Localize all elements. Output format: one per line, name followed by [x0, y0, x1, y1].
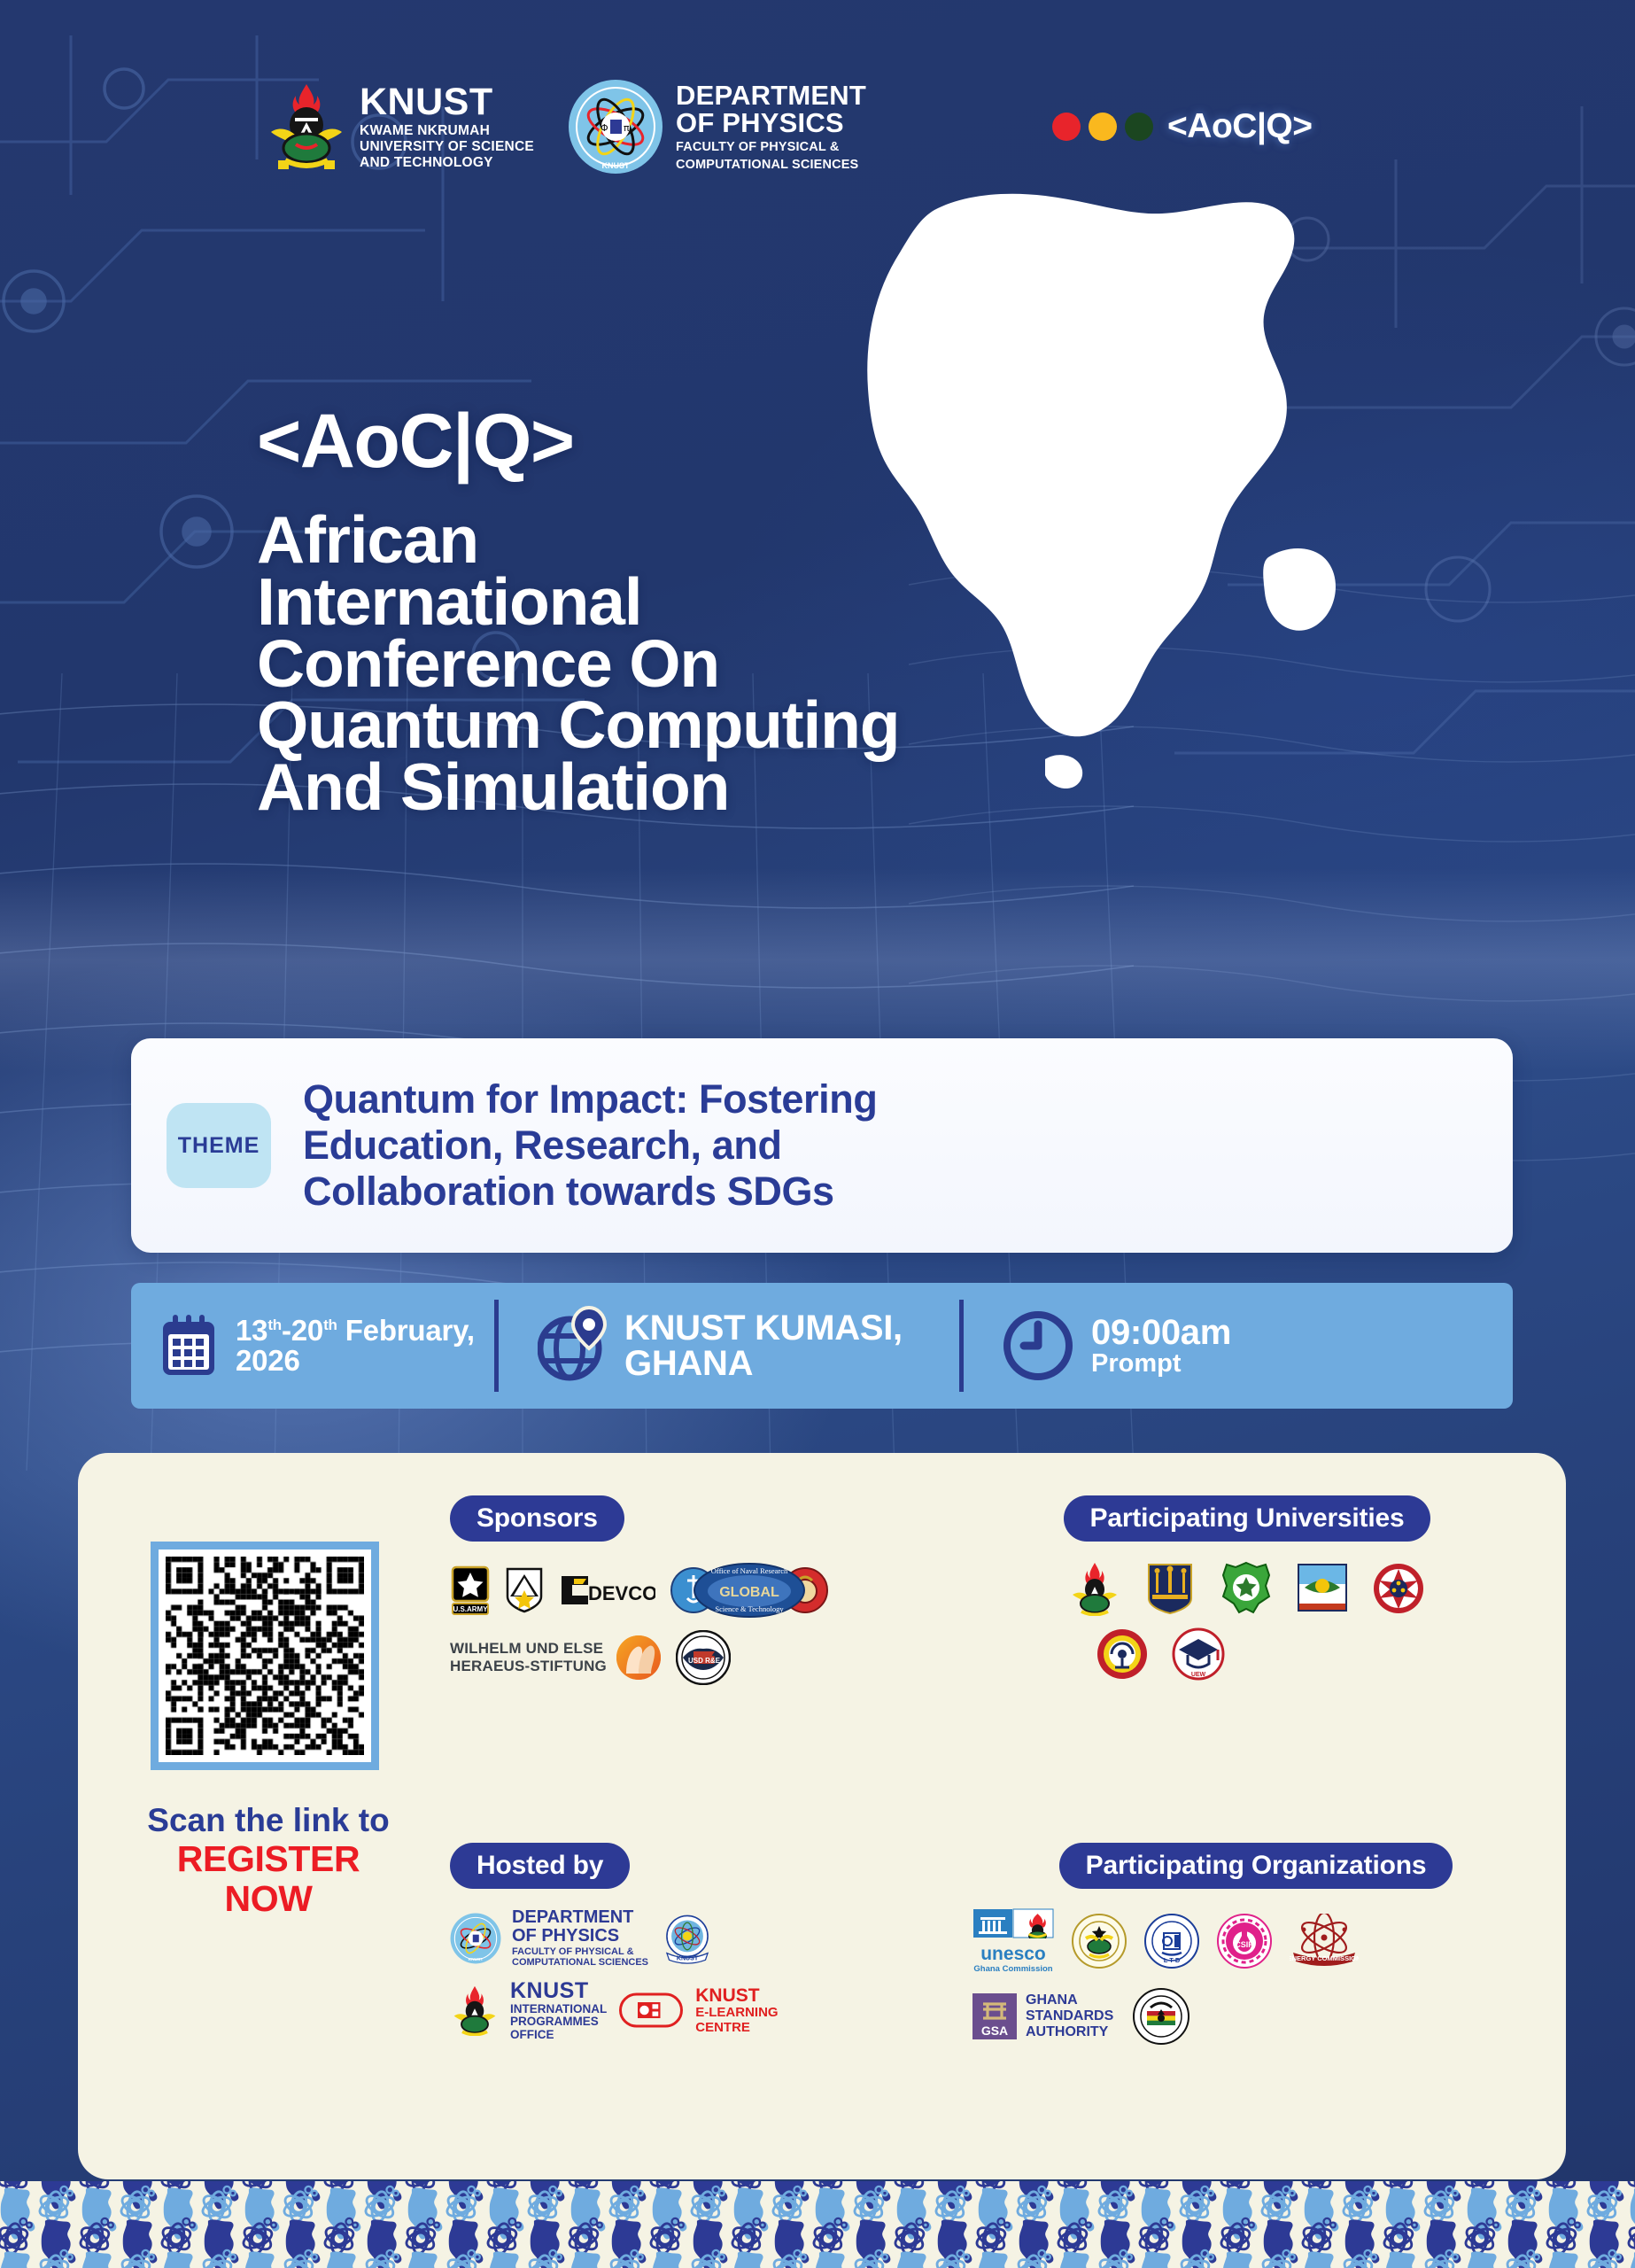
- detail-venue-text: KNUST KUMASI, GHANA: [624, 1310, 903, 1381]
- department-of-physics-wordmark: DEPARTMENT OF PHYSICS FACULTY OF PHYSICA…: [512, 1908, 648, 1969]
- gsa-wordmark: GHANA STANDARDS AUTHORITY: [1026, 1992, 1113, 2040]
- detail-date-year: 2026: [236, 1346, 475, 1376]
- svg-text:USD R&E: USD R&E: [688, 1657, 721, 1665]
- department-line1: DEPARTMENT: [676, 82, 866, 109]
- university-of-education-winneba-logo: UEW: [1172, 1627, 1225, 1682]
- gsa-line1: GHANA: [1026, 1992, 1113, 2008]
- usd-r-and-e-logo: USD R&E: [676, 1630, 731, 1685]
- hero-title-block: <AoC|Q> African International Conference…: [257, 403, 930, 819]
- dot-amber: [1089, 113, 1117, 141]
- gsa-line3: AUTHORITY: [1026, 2024, 1113, 2040]
- department-of-physics-logo: KNUST: [450, 1913, 501, 1964]
- university-of-energy-and-natural-resources-logo: [1372, 1561, 1425, 1616]
- department-wordmark: DEPARTMENT OF PHYSICS FACULTY OF PHYSICA…: [676, 82, 866, 172]
- ghana-water-ltd-logo: L T D: [1144, 1914, 1199, 1969]
- elc-sub2: CENTRE: [695, 2021, 778, 2036]
- svg-text:Φ: Φ: [601, 122, 608, 134]
- svg-text:U.S.ARMY: U.S.ARMY: [453, 1605, 488, 1613]
- hero-title-line-5: And Simulation: [257, 757, 930, 819]
- organizations-heading: Participating Organizations: [1059, 1843, 1453, 1889]
- svg-text:DEVCOM: DEVCOM: [588, 1582, 655, 1604]
- unesco-wordmark: unesco: [972, 1945, 1054, 1963]
- hosted-by-row-1: KNUST DEPARTMENT OF PHYSICS FACULTY OF P…: [450, 1908, 946, 1969]
- hosted-dept-line2: OF PHYSICS: [512, 1927, 648, 1946]
- detail-date-text: 13th-20th February, 2026: [236, 1316, 475, 1377]
- knust-crest-icon: [266, 82, 347, 171]
- theme-text: Quantum for Impact: Fostering Education,…: [303, 1076, 877, 1216]
- universities-row-1: [972, 1561, 1522, 1616]
- elc-sub1: E-LEARNING: [695, 2006, 778, 2021]
- detail-venue: KNUST KUMASI, GHANA: [499, 1283, 959, 1409]
- africa-atom-repeating-border: [0, 2181, 1635, 2268]
- organizations-row-2: GSA GHANA STANDARDS AUTHORITY: [972, 1988, 1539, 2045]
- detail-venue-line2: GHANA: [624, 1346, 903, 1381]
- organizations-row-1: unesco Ghana Commission: [972, 1908, 1539, 1974]
- svg-text:KNUST: KNUST: [677, 1955, 699, 1961]
- detail-date-line1: 13th-20th February,: [236, 1316, 475, 1346]
- ipo-sub3: OFFICE: [510, 2029, 607, 2042]
- universities-heading: Participating Universities: [1064, 1495, 1431, 1542]
- aocq-logo-block: <AoC|Q>: [1052, 107, 1312, 146]
- hero-title-line-2: International: [257, 571, 930, 633]
- theme-card: THEME Quantum for Impact: Fostering Educ…: [131, 1038, 1513, 1253]
- atom-orbit-icon: [1098, 266, 1267, 412]
- hosted-by-heading: Hosted by: [450, 1843, 630, 1889]
- heraeus-line2: HERAEUS-STIFTUNG: [450, 1658, 607, 1675]
- hosted-by-row-2: KNUST INTERNATIONAL PROGRAMMES OFFICE: [450, 1979, 946, 2042]
- army-futures-command-logo: [505, 1566, 544, 1614]
- office-of-naval-research-global-logo: Office of Naval Research GLOBAL Science …: [670, 1561, 829, 1619]
- svg-text:π: π: [624, 122, 630, 134]
- hero-title-line-1: African: [257, 509, 930, 571]
- unesco-ghana-commission-logo: unesco Ghana Commission: [972, 1908, 1054, 1974]
- svg-text:GLOBAL: GLOBAL: [719, 1585, 779, 1600]
- theme-line-2: Education, Research, and: [303, 1122, 877, 1169]
- aocq-dots: [1052, 113, 1153, 141]
- knust-wordmark: KNUST KWAME NKRUMAH UNIVERSITY OF SCIENC…: [360, 83, 534, 169]
- qr-canvas[interactable]: [166, 1557, 364, 1755]
- unesco-sub: Ghana Commission: [972, 1964, 1054, 1974]
- sponsors-row-1: U.S.ARMY DEVCOM: [450, 1561, 787, 1619]
- knust-e-learning-wordmark: KNUST E-LEARNING CENTRE: [695, 1985, 778, 2035]
- ipo-sub1: INTERNATIONAL: [510, 2003, 607, 2016]
- clock-icon: [1003, 1309, 1073, 1383]
- svg-text:Office of Naval Research: Office of Naval Research: [711, 1566, 788, 1575]
- svg-text:ENERGY COMMISSION: ENERGY COMMISSION: [1290, 1954, 1359, 1962]
- detail-time-line1: 09:00am: [1091, 1315, 1231, 1350]
- hosted-by-heading-wrap: Hosted by: [450, 1843, 946, 1889]
- register-line-1: Scan the link to: [131, 1803, 406, 1839]
- sponsors-heading: Sponsors: [450, 1495, 624, 1542]
- university-for-development-studies-logo: [1296, 1561, 1349, 1616]
- heraeus-faces-icon: [616, 1635, 662, 1681]
- hero-title-line-4: Quantum Computing: [257, 695, 930, 757]
- detail-time-text: 09:00am Prompt: [1091, 1315, 1231, 1377]
- detail-venue-line1: KNUST KUMASI,: [624, 1310, 903, 1346]
- aocq-logo-text: <AoC|Q>: [1167, 107, 1312, 146]
- calendar-icon: [159, 1313, 218, 1379]
- theme-label-pill: THEME: [167, 1103, 271, 1188]
- ghana-tertiary-education-commission-logo: [1072, 1914, 1127, 1969]
- universities-section: Participating Universities: [972, 1495, 1522, 1692]
- svg-text:L T D: L T D: [1164, 1956, 1181, 1964]
- ghana-communication-technology-university-logo: [1096, 1627, 1149, 1682]
- register-line-2: REGISTER NOW: [131, 1839, 406, 1919]
- organizations-heading-wrap: Participating Organizations: [972, 1843, 1539, 1889]
- hero-title-lines: African International Conference On Quan…: [257, 509, 930, 819]
- ipo-sub2: PROGRAMMES: [510, 2016, 607, 2029]
- universities-row-2: UEW: [799, 1627, 1522, 1682]
- poster-canvas: KNUST KWAME NKRUMAH UNIVERSITY OF SCIENC…: [0, 0, 1635, 2268]
- mathematical-computational-physics-seal-icon: Φ π KNUST: [568, 79, 663, 175]
- hosted-by-logo-rows: KNUST DEPARTMENT OF PHYSICS FACULTY OF P…: [450, 1908, 946, 2041]
- sponsors-section: Sponsors U.S.ARMY: [450, 1495, 787, 1696]
- hosted-by-section: Hosted by KNUST: [450, 1843, 946, 2052]
- knust-line3: AND TECHNOLOGY: [360, 156, 534, 170]
- department-line2: OF PHYSICS: [676, 109, 866, 136]
- knust-international-programmes-office-logo: [450, 1984, 500, 2036]
- dot-red: [1052, 113, 1081, 141]
- hosted-dept-sub2: COMPUTATIONAL SCIENCES: [512, 1958, 648, 1969]
- knust-line1: KWAME NKRUMAH: [360, 124, 534, 138]
- dot-green: [1125, 113, 1153, 141]
- event-details-bar: 13th-20th February, 2026 KNUST KUMASI, G…: [131, 1283, 1513, 1409]
- hero-title-line-3: Conference On: [257, 633, 930, 695]
- college-of-science-knust-logo: KNUST: [659, 1910, 716, 1967]
- detail-time-line2: Prompt: [1091, 1350, 1231, 1377]
- pattern-svg: [0, 2181, 1635, 2268]
- hero-tag: <AoC|Q>: [257, 403, 930, 479]
- gsa-line2: STANDARDS: [1026, 2008, 1113, 2024]
- registration-qr-code[interactable]: [151, 1542, 379, 1770]
- svg-text:CSIR: CSIR: [1235, 1940, 1254, 1949]
- sponsors-logo-rows: U.S.ARMY DEVCOM: [450, 1561, 787, 1685]
- theme-line-1: Quantum for Impact: Fostering: [303, 1076, 877, 1122]
- poster-header: KNUST KWAME NKRUMAH UNIVERSITY OF SCIENC…: [0, 78, 1635, 175]
- organizations-section: Participating Organizations: [972, 1843, 1539, 2055]
- university-of-cape-coast-logo: [1220, 1561, 1273, 1616]
- knust-crest-logo: [1069, 1561, 1120, 1616]
- elc-line1: KNUST: [695, 1985, 778, 2006]
- partners-panel: Scan the link to REGISTER NOW Sponsors U…: [78, 1453, 1566, 2179]
- unesco-emblem-icon: [972, 1908, 1054, 1938]
- ghana-standards-authority-logo: GSA GHANA STANDARDS AUTHORITY: [972, 1992, 1113, 2040]
- svg-text:KNUST: KNUST: [602, 161, 631, 170]
- knust-e-learning-centre-mark: [617, 1992, 685, 2029]
- theme-line-3: Collaboration towards SDGs: [303, 1169, 877, 1215]
- svg-text:KNUST: KNUST: [469, 1957, 484, 1962]
- knust-line2: UNIVERSITY OF SCIENCE: [360, 140, 534, 154]
- sponsors-row-2: WILHELM UND ELSE HERAEUS-STIFTUNG: [450, 1630, 787, 1685]
- wilhelm-und-else-heraeus-stiftung-logo: WILHELM UND ELSE HERAEUS-STIFTUNG: [450, 1635, 662, 1681]
- knust-logo-block: KNUST KWAME NKRUMAH UNIVERSITY OF SCIENC…: [266, 82, 534, 171]
- knust-ipo-wordmark: KNUST INTERNATIONAL PROGRAMMES OFFICE: [510, 1979, 607, 2042]
- organizations-logo-rows: unesco Ghana Commission: [972, 1908, 1539, 2045]
- ghana-atomic-energy-commission-logo: ENERGY COMMISSION: [1290, 1914, 1359, 1969]
- globe-pin-icon: [538, 1306, 607, 1386]
- national-communications-authority-logo: [1133, 1988, 1189, 2045]
- department-of-physics-logo-block: Φ π KNUST DEPARTMENT OF PHYSICS FACULTY …: [568, 79, 866, 175]
- register-callout: Scan the link to REGISTER NOW: [131, 1803, 406, 1919]
- detail-date: 13th-20th February, 2026: [131, 1283, 494, 1409]
- devcom-logo: DEVCOM: [558, 1573, 655, 1608]
- heraeus-line1: WILHELM UND ELSE: [450, 1640, 607, 1658]
- svg-text:GSA: GSA: [981, 2023, 1008, 2038]
- csir-ghana-logo: CSIR: [1217, 1914, 1272, 1969]
- detail-time: 09:00am Prompt: [964, 1283, 1513, 1409]
- svg-text:Science & Technology: Science & Technology: [715, 1604, 784, 1613]
- university-of-ghana-logo: [1143, 1561, 1197, 1616]
- universities-logo-rows: UEW: [972, 1561, 1522, 1682]
- svg-text:UEW: UEW: [1191, 1672, 1206, 1678]
- department-sub1: FACULTY OF PHYSICAL &: [676, 140, 866, 154]
- hosted-dept-line1: DEPARTMENT: [512, 1908, 648, 1927]
- gsa-adinkra-icon: GSA: [972, 1993, 1017, 2039]
- universities-heading-wrap: Participating Universities: [972, 1495, 1522, 1542]
- ipo-line1: KNUST: [510, 1979, 607, 2003]
- knust-name: KNUST: [360, 83, 534, 122]
- us-army-logo: U.S.ARMY: [450, 1565, 491, 1615]
- sponsors-heading-wrap: Sponsors: [450, 1495, 787, 1542]
